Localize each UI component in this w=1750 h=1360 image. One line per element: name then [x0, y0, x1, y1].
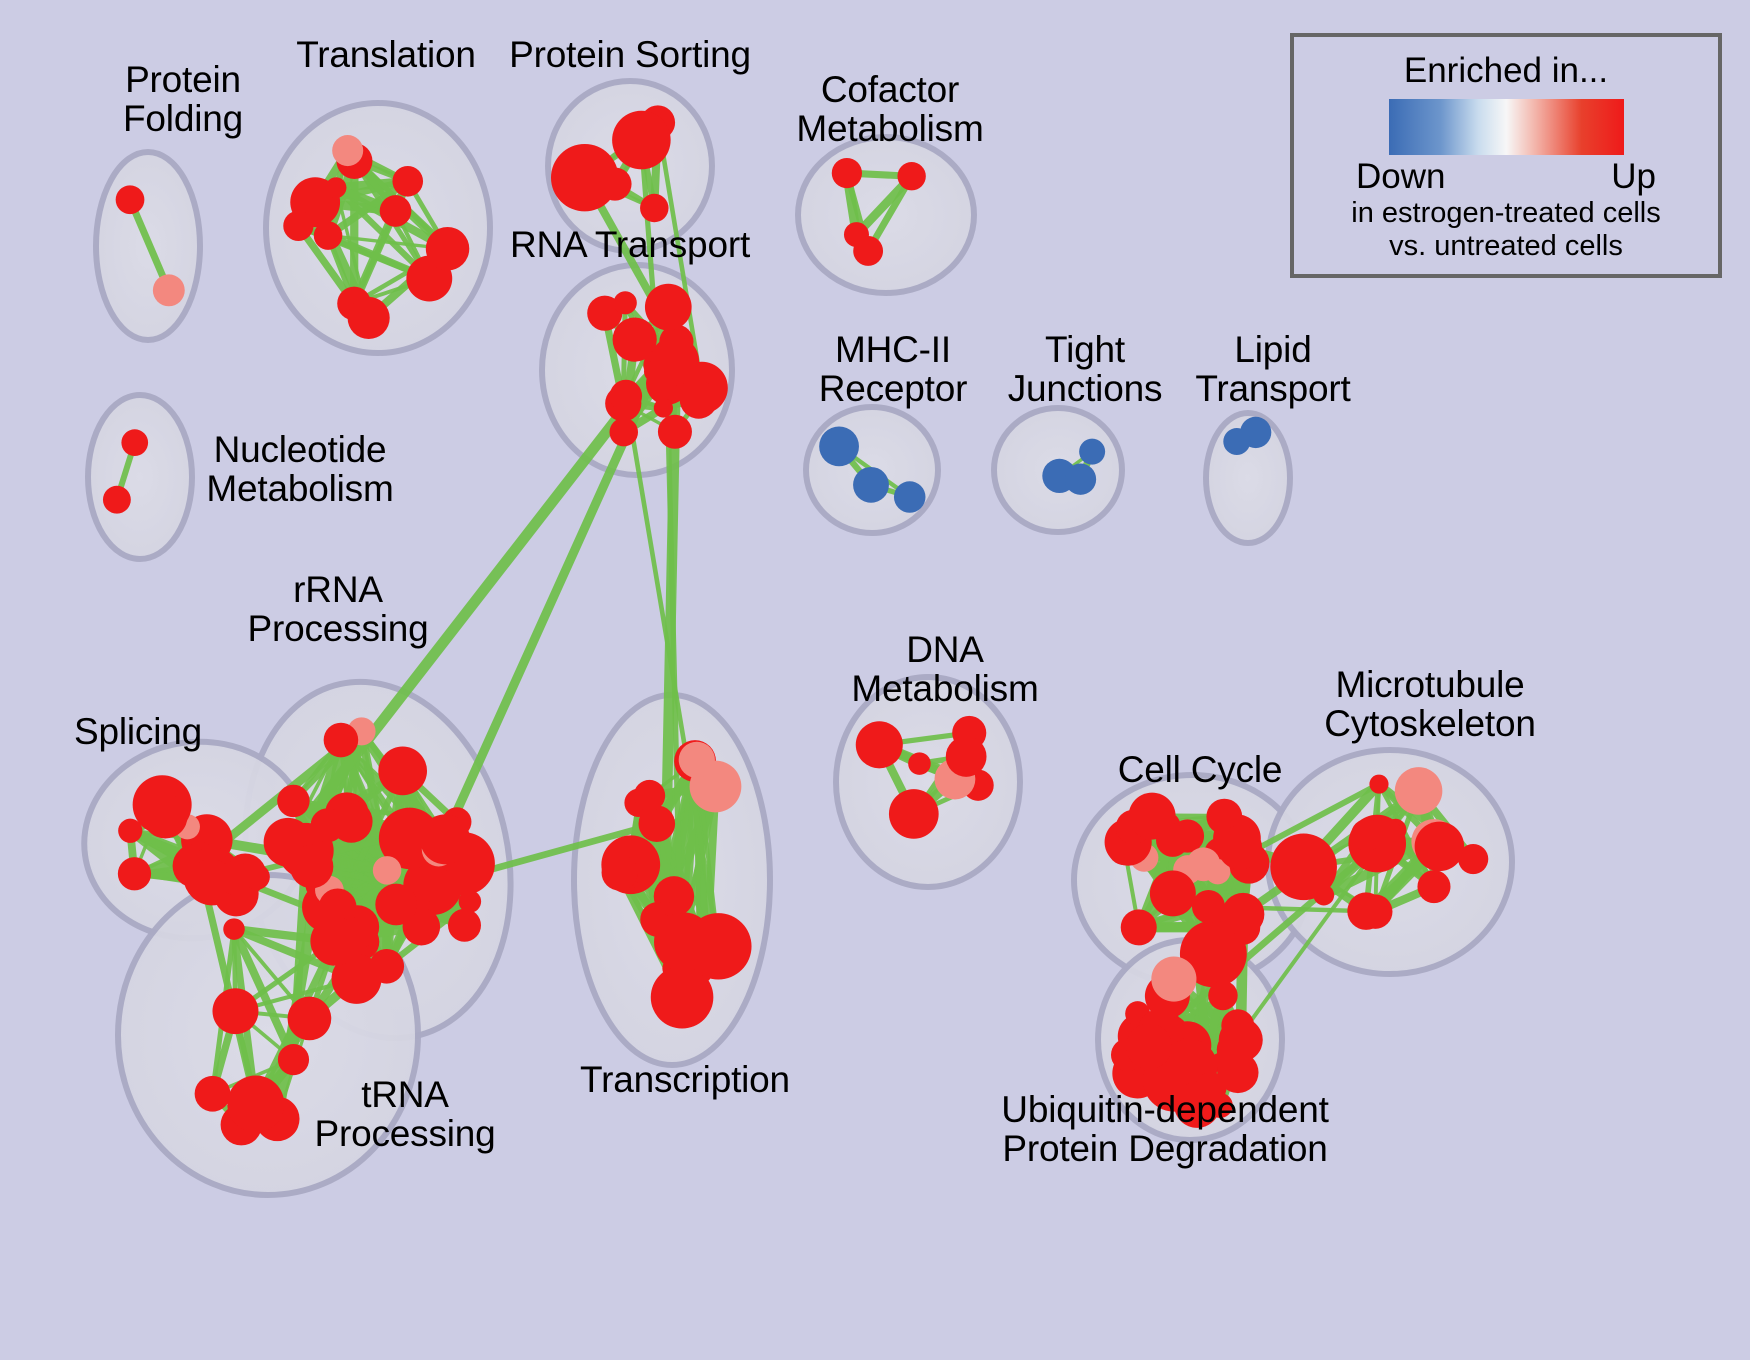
network-node	[314, 221, 343, 250]
network-node	[1223, 428, 1250, 455]
network-node	[290, 845, 333, 888]
network-node	[1121, 909, 1157, 945]
network-node	[680, 381, 718, 419]
legend-down-label: Down	[1356, 157, 1445, 197]
network-node	[894, 481, 926, 513]
network-node	[426, 227, 469, 270]
network-node	[645, 284, 692, 331]
network-node	[1126, 1024, 1172, 1070]
cluster-label-mhc-ii-receptor: MHC-II Receptor	[798, 330, 988, 408]
network-node	[311, 808, 345, 842]
cluster-label-translation: Translation	[276, 35, 496, 74]
network-node	[655, 884, 674, 903]
network-node	[1150, 870, 1196, 916]
network-node	[634, 780, 665, 811]
network-node	[654, 398, 673, 417]
network-node	[946, 736, 987, 777]
network-node	[1270, 834, 1337, 901]
network-node	[856, 721, 903, 768]
legend-title: Enriched in...	[1404, 51, 1608, 91]
network-node	[118, 857, 151, 890]
network-node	[853, 236, 883, 266]
network-node	[103, 486, 131, 514]
cluster-label-rna-transport: RNA Transport	[500, 225, 760, 264]
cluster-label-splicing: Splicing	[48, 712, 228, 751]
network-node	[551, 144, 618, 211]
network-node	[640, 194, 668, 222]
network-node	[1065, 464, 1096, 495]
network-node	[459, 890, 482, 913]
cluster-nucleotide-metabolism	[88, 395, 192, 559]
network-node	[420, 868, 456, 904]
cluster-label-cell-cycle: Cell Cycle	[1100, 750, 1300, 789]
network-node	[1187, 847, 1221, 881]
network-node	[610, 380, 642, 412]
network-node	[614, 291, 637, 314]
network-node	[612, 111, 671, 170]
network-node	[116, 185, 145, 214]
legend-caption-line-2: vs. untreated cells	[1389, 231, 1623, 263]
network-node	[1156, 824, 1189, 857]
network-node	[819, 426, 859, 466]
network-node	[602, 854, 638, 890]
cluster-label-transcription: Transcription	[560, 1060, 810, 1099]
network-node	[908, 752, 931, 775]
network-node	[283, 211, 313, 241]
network-node	[1417, 870, 1450, 903]
legend-panel: Enriched in... Down Up in estrogen-treat…	[1290, 33, 1722, 278]
cluster-label-tight-junctions: Tight Junctions	[990, 330, 1180, 408]
network-node	[121, 429, 148, 456]
network-node	[143, 794, 188, 839]
cluster-label-cofactor-metabolism: Cofactor Metabolism	[780, 70, 1000, 148]
cluster-label-dna-metabolism: DNA Metabolism	[810, 630, 1080, 708]
cluster-label-rrna-processing: rRNA Processing	[228, 570, 448, 648]
cluster-label-ubiquitin-protein-degradation: Ubiquitin-dependent Protein Degradation	[1000, 1090, 1330, 1168]
cluster-label-protein-sorting: Protein Sorting	[500, 35, 760, 74]
network-node	[375, 884, 417, 926]
legend-up-label: Up	[1611, 157, 1656, 197]
network-node	[1079, 439, 1105, 465]
network-node	[1218, 825, 1262, 869]
network-node	[832, 158, 862, 188]
network-node	[650, 337, 699, 386]
cluster-label-trna-processing: tRNA Processing	[300, 1075, 510, 1153]
network-node	[685, 913, 751, 979]
network-node	[310, 916, 359, 965]
network-node	[1192, 890, 1225, 923]
network-node	[332, 135, 363, 166]
network-node	[889, 789, 939, 839]
network-node	[1208, 981, 1237, 1010]
network-node	[326, 177, 347, 198]
network-node	[223, 918, 245, 940]
enrichment-network-figure: Protein FoldingTranslationProtein Sortin…	[0, 0, 1750, 1360]
network-node	[153, 274, 185, 306]
network-node	[380, 195, 412, 227]
network-node	[1351, 819, 1383, 851]
cluster-label-microtubule-cytoskeleton: Microtubule Cytoskeleton	[1300, 665, 1560, 743]
network-node	[212, 988, 258, 1034]
network-node	[1347, 892, 1384, 929]
network-node	[1369, 775, 1388, 794]
network-node	[277, 785, 309, 817]
legend-colorbar	[1389, 99, 1624, 155]
network-node	[324, 723, 359, 758]
network-node	[378, 747, 427, 796]
network-node	[227, 1075, 284, 1132]
network-node	[610, 418, 638, 446]
network-node	[195, 1076, 231, 1112]
network-node	[1415, 822, 1465, 872]
network-node	[1395, 767, 1443, 815]
network-node	[897, 162, 925, 190]
network-node	[679, 742, 715, 778]
network-node	[638, 805, 675, 842]
network-node	[420, 814, 470, 864]
network-node	[448, 909, 481, 942]
network-node	[118, 819, 142, 843]
cluster-label-protein-folding: Protein Folding	[88, 60, 278, 138]
cluster-label-lipid-transport: Lipid Transport	[1178, 330, 1368, 408]
network-node	[853, 467, 889, 503]
network-node	[658, 415, 692, 449]
network-node	[348, 297, 390, 339]
network-node	[1221, 1009, 1254, 1042]
cluster-label-nucleotide-metabolism: Nucleotide Metabolism	[190, 430, 410, 508]
legend-caption-line-1: in estrogen-treated cells	[1351, 198, 1661, 230]
network-node	[1151, 956, 1196, 1001]
network-node	[288, 997, 332, 1041]
network-node	[1222, 893, 1265, 936]
network-node	[278, 1044, 309, 1075]
network-node	[373, 856, 402, 885]
network-node	[218, 861, 251, 894]
network-node	[392, 166, 423, 197]
